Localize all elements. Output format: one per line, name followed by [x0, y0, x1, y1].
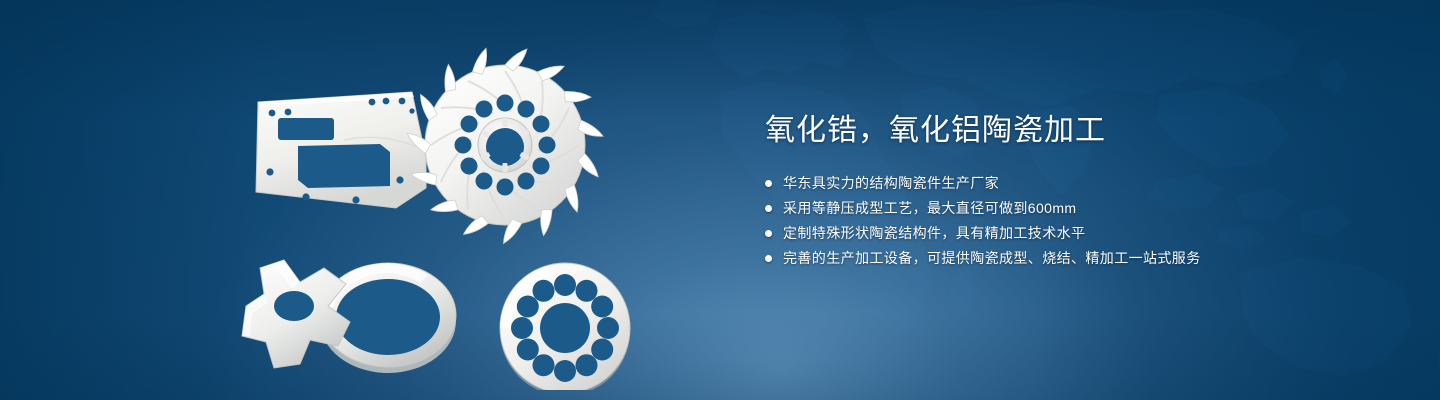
ceramic-perforated-disc-shape [500, 263, 630, 390]
list-item: 完善的生产加工设备，可提供陶瓷成型、烧结、精加工一站式服务 [765, 247, 1385, 269]
ceramic-impeller-shape [407, 48, 603, 243]
bullet-dot-icon [765, 255, 772, 262]
bullet-dot-icon [765, 205, 772, 212]
feature-text: 定制特殊形状陶瓷结构件，具有精加工技术水平 [783, 222, 1085, 244]
page-title: 氧化锆，氧化铝陶瓷加工 [765, 112, 1385, 150]
hero-banner: 氧化锆，氧化铝陶瓷加工 华东具实力的结构陶瓷件生产厂家 采用等静压成型工艺，最大… [0, 0, 1440, 400]
text-content: 氧化锆，氧化铝陶瓷加工 华东具实力的结构陶瓷件生产厂家 采用等静压成型工艺，最大… [765, 112, 1385, 272]
list-item: 定制特殊形状陶瓷结构件，具有精加工技术水平 [765, 222, 1385, 244]
bullet-dot-icon [765, 180, 772, 187]
feature-text: 华东具实力的结构陶瓷件生产厂家 [783, 172, 999, 194]
list-item: 华东具实力的结构陶瓷件生产厂家 [765, 172, 1385, 194]
feature-text: 采用等静压成型工艺，最大直径可做到600mm [783, 197, 1076, 219]
ceramic-plate-shape [256, 92, 426, 208]
product-photo-group [220, 40, 720, 390]
list-item: 采用等静压成型工艺，最大直径可做到600mm [765, 197, 1385, 219]
bullet-dot-icon [765, 230, 772, 237]
feature-text: 完善的生产加工设备，可提供陶瓷成型、烧结、精加工一站式服务 [783, 247, 1201, 269]
feature-list: 华东具实力的结构陶瓷件生产厂家 采用等静压成型工艺，最大直径可做到600mm 定… [765, 172, 1385, 269]
